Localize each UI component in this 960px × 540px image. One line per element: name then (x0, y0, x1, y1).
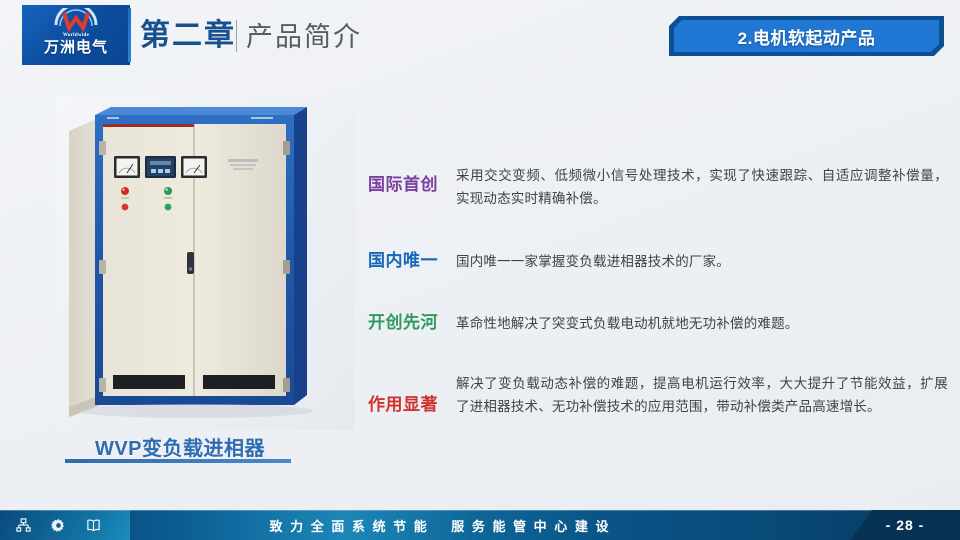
feature-text: 革命性地解决了突变式负载电动机就地无功补偿的难题。 (456, 312, 948, 335)
w-emblem-icon (53, 8, 99, 32)
feature-text: 采用交交变频、低频微小信号处理技术，实现了快速跟踪、自适应调整补偿量，实现动态实… (456, 164, 948, 210)
feature-label: 国内唯一 (368, 250, 456, 272)
slide-footer: 致 力 全 面 系 统 节 能 服 务 能 管 中 心 建 设 - 28 - (0, 510, 960, 540)
section-subtitle: 产品简介 (246, 18, 362, 56)
product-caption: WVP变负载进相器 (62, 432, 298, 461)
feature-text: 解决了变负载动态补偿的难题，提高电机运行效率，大大提升了节能效益，扩展了进相器技… (456, 372, 948, 418)
slide-header: Worldwide 万洲电气 第二章 产品简介 2.电机软起动产品 (0, 0, 960, 78)
slide-root: Worldwide 万洲电气 第二章 产品简介 2.电机软起动产品 (0, 0, 960, 540)
logo-english-name: Worldwide (63, 33, 89, 38)
feature-item: 国际首创 采用交交变频、低频微小信号处理技术，实现了快速跟踪、自适应调整补偿量，… (368, 164, 948, 210)
footer-slogan-text: 致 力 全 面 系 统 节 能 服 务 能 管 中 心 建 设 (269, 516, 610, 535)
footer-slogan: 致 力 全 面 系 统 节 能 服 务 能 管 中 心 建 设 (0, 510, 880, 540)
feature-item: 国内唯一 国内唯一一家掌握变负载进相器技术的厂家。 (368, 250, 948, 273)
chapter-title: 第二章 (140, 16, 236, 56)
feature-item: 开创先河 革命性地解决了突变式负载电动机就地无功补偿的难题。 (368, 312, 948, 335)
logo-company-name: 万洲电气 (44, 40, 108, 55)
badge-label: 2.电机软起动产品 (738, 24, 876, 49)
feature-item: 作用显著 解决了变负载动态补偿的难题，提高电机运行效率，大大提升了节能效益，扩展… (368, 372, 948, 418)
caption-underline (65, 459, 291, 463)
feature-label: 开创先河 (368, 312, 456, 334)
title-separator (236, 20, 237, 52)
badge-fill: 2.电机软起动产品 (674, 20, 939, 52)
feature-label: 作用显著 (368, 372, 456, 416)
company-logo: Worldwide 万洲电气 (22, 5, 130, 65)
section-badge: 2.电机软起动产品 (669, 16, 944, 56)
feature-label: 国际首创 (368, 164, 456, 196)
product-image (55, 95, 355, 430)
feature-text: 国内唯一一家掌握变负载进相器技术的厂家。 (456, 250, 948, 273)
header-accent-bar (128, 8, 131, 62)
